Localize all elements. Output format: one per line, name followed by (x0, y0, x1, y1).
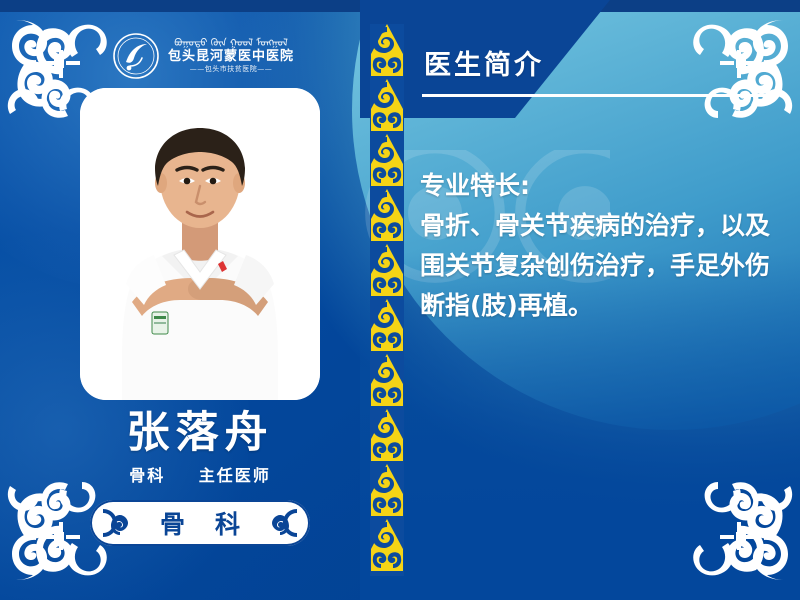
hospital-name-mongolian: ᠪᠤᠭᠤᠳᠤ ᠬᠦᠨ ᠭᠣᠣᠯ ᠮᠣᠩᠭᠣᠯ (174, 38, 288, 49)
profile-description: 骨折、骨关节疾病的治疗，以及围关节复杂创伤治疗，手足外伤断指(肢)再植。 (420, 206, 786, 326)
hospital-logo: ᠪᠤᠭᠤᠳᠤ ᠬᠦᠨ ᠭᠣᠣᠯ ᠮᠣᠩᠭᠣᠯ 包头昆河蒙医中医院 ——包头市扶贫… (112, 28, 312, 84)
corner-ornament-top-right-icon (688, 14, 796, 118)
mongolian-pattern-divider (370, 24, 404, 576)
doctor-photo-card (80, 88, 320, 400)
hospital-logo-text: ᠪᠤᠭᠤᠳᠤ ᠬᠦᠨ ᠭᠣᠣᠯ ᠮᠣᠩᠭᠣᠯ 包头昆河蒙医中医院 ——包头市扶贫… (168, 38, 294, 74)
profile-text: 专业特长: 骨折、骨关节疾病的治疗，以及围关节复杂创伤治疗，手足外伤断指(肢)再… (420, 166, 786, 326)
section-title: 医生简介 (424, 52, 544, 79)
hospital-name-chinese: 包头昆河蒙医中医院 (168, 50, 294, 64)
hospital-subtitle: ——包头市扶贫医院—— (190, 65, 273, 74)
section-title-underline (422, 94, 774, 97)
doctor-meta: 骨科 主任医师 (60, 468, 340, 484)
doctor-title: 主任医师 (199, 466, 271, 485)
hospital-emblem-icon (112, 32, 160, 80)
doctor-profile-poster: ⦿⦿ (0, 0, 800, 600)
badge-scroll-right-icon (270, 507, 300, 539)
corner-ornament-bottom-right-icon (688, 482, 796, 586)
doctor-portrait-image (80, 88, 320, 400)
profile-lead: 专业特长: (420, 166, 786, 206)
doctor-name: 张落舟 (60, 412, 340, 455)
doctor-department: 骨科 (129, 466, 165, 485)
department-badge: 骨科 (90, 500, 310, 546)
